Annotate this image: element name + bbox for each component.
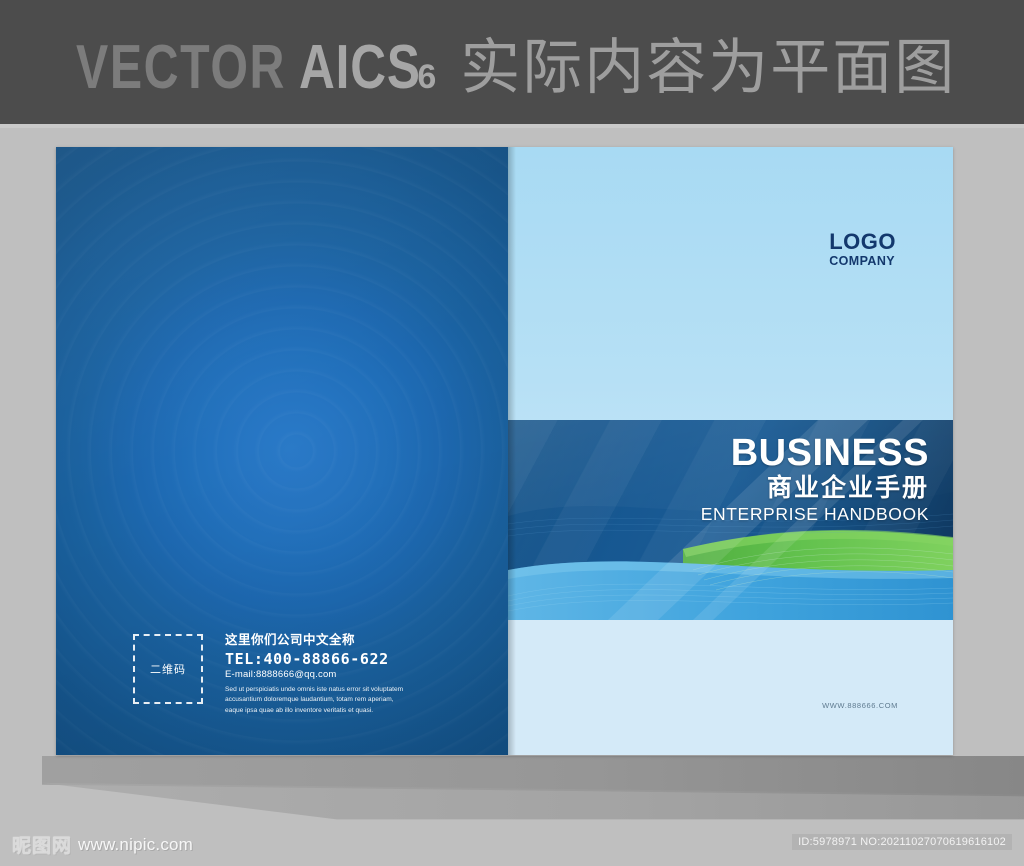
site-name-chinese: 昵图网 bbox=[12, 831, 72, 858]
top-banner: VECTOR AICS 6 实际内容为平面图 bbox=[0, 0, 1024, 124]
qr-code-placeholder: 二维码 bbox=[133, 634, 203, 704]
cover-website-url: WWW.888666.COM bbox=[822, 701, 898, 710]
front-cover-lower-block bbox=[508, 620, 953, 755]
contact-text-group: 这里你们公司中文全称 TEL:400-88866-622 E-mail:8888… bbox=[225, 633, 407, 716]
brochure-mockup: 二维码 这里你们公司中文全称 TEL:400-88866-622 E-mail:… bbox=[56, 147, 953, 755]
banner-aics-label: AICS bbox=[299, 32, 421, 103]
site-watermark: 昵图网 www.nipic.com bbox=[12, 831, 193, 858]
banner-vector-label: VECTOR bbox=[76, 32, 286, 103]
cover-subtitle-english: ENTERPRISE HANDBOOK bbox=[701, 504, 929, 525]
site-url-text: www.nipic.com bbox=[78, 835, 193, 855]
company-name-chinese: 这里你们公司中文全称 bbox=[225, 633, 407, 649]
telephone-line: TEL:400-88866-622 bbox=[225, 651, 407, 668]
back-cover-page: 二维码 这里你们公司中文全称 TEL:400-88866-622 E-mail:… bbox=[56, 147, 508, 755]
placeholder-paragraph: Sed ut perspiciatis unde omnis iste natu… bbox=[225, 685, 407, 716]
logo-secondary-text: COMPANY bbox=[829, 255, 896, 268]
banner-note-chinese: 实际内容为平面图 bbox=[460, 19, 956, 106]
image-id-tag: ID:5978971 NO:20211027070619616102 bbox=[792, 834, 1012, 850]
front-cover-page: LOGO COMPANY bbox=[508, 147, 953, 755]
cover-graphic-band: BUSINESS 商业企业手册 ENTERPRISE HANDBOOK bbox=[508, 420, 953, 620]
screenshot-stage: VECTOR AICS 6 实际内容为平面图 二维码 这里你们公司中文全称 TE… bbox=[0, 0, 1024, 866]
banner-text-group: VECTOR AICS 6 实际内容为平面图 bbox=[0, 19, 956, 106]
cover-title-block: BUSINESS 商业企业手册 ENTERPRISE HANDBOOK bbox=[701, 434, 929, 525]
email-line: E-mail:8888666@qq.com bbox=[225, 669, 407, 680]
contact-block: 二维码 这里你们公司中文全称 TEL:400-88866-622 E-mail:… bbox=[133, 633, 407, 716]
cover-title-english: BUSINESS bbox=[701, 434, 929, 472]
cover-title-chinese: 商业企业手册 bbox=[701, 474, 929, 502]
logo-primary-text: LOGO bbox=[829, 231, 896, 253]
logo-block: LOGO COMPANY bbox=[829, 231, 896, 268]
banner-bottom-edge bbox=[0, 124, 1024, 128]
footer-bar: 昵图网 www.nipic.com ID:5978971 NO:20211027… bbox=[0, 822, 1024, 866]
